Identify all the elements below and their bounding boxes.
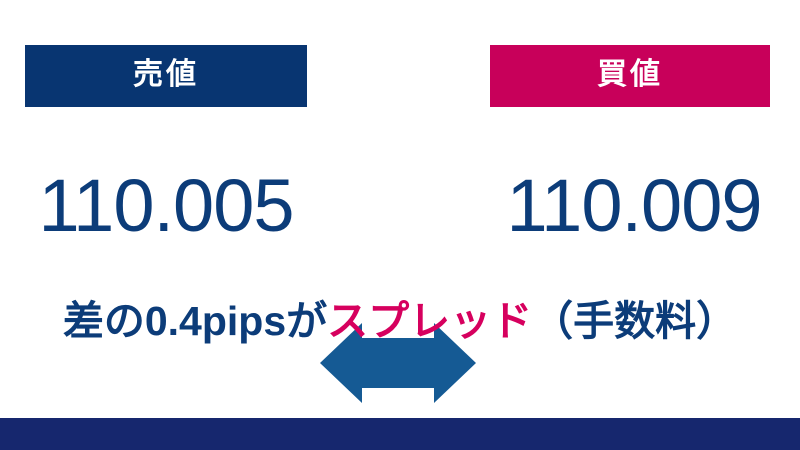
spread-illustration-canvas: 売値 買値 110.005 110.009 差の0.4pipsがスプレッド（手数…	[0, 0, 800, 450]
spread-caption: 差の0.4pipsがスプレッド（手数料）	[0, 296, 800, 346]
caption-segment-difference: 差の0.4pipsが	[63, 298, 327, 344]
sell-price-header-box: 売値	[25, 45, 307, 107]
buy-price-header-box: 買値	[490, 45, 770, 107]
buy-price-value: 110.009	[488, 158, 780, 254]
price-row: 110.005 110.009	[0, 158, 800, 254]
buy-price-header-label: 買値	[597, 60, 663, 90]
sell-price-header-label: 売値	[133, 60, 199, 90]
caption-segment-spread: スプレッド	[327, 298, 532, 344]
footer-bar	[0, 418, 800, 450]
caption-segment-fee: （手数料）	[532, 298, 737, 344]
sell-price-value: 110.005	[20, 158, 312, 254]
